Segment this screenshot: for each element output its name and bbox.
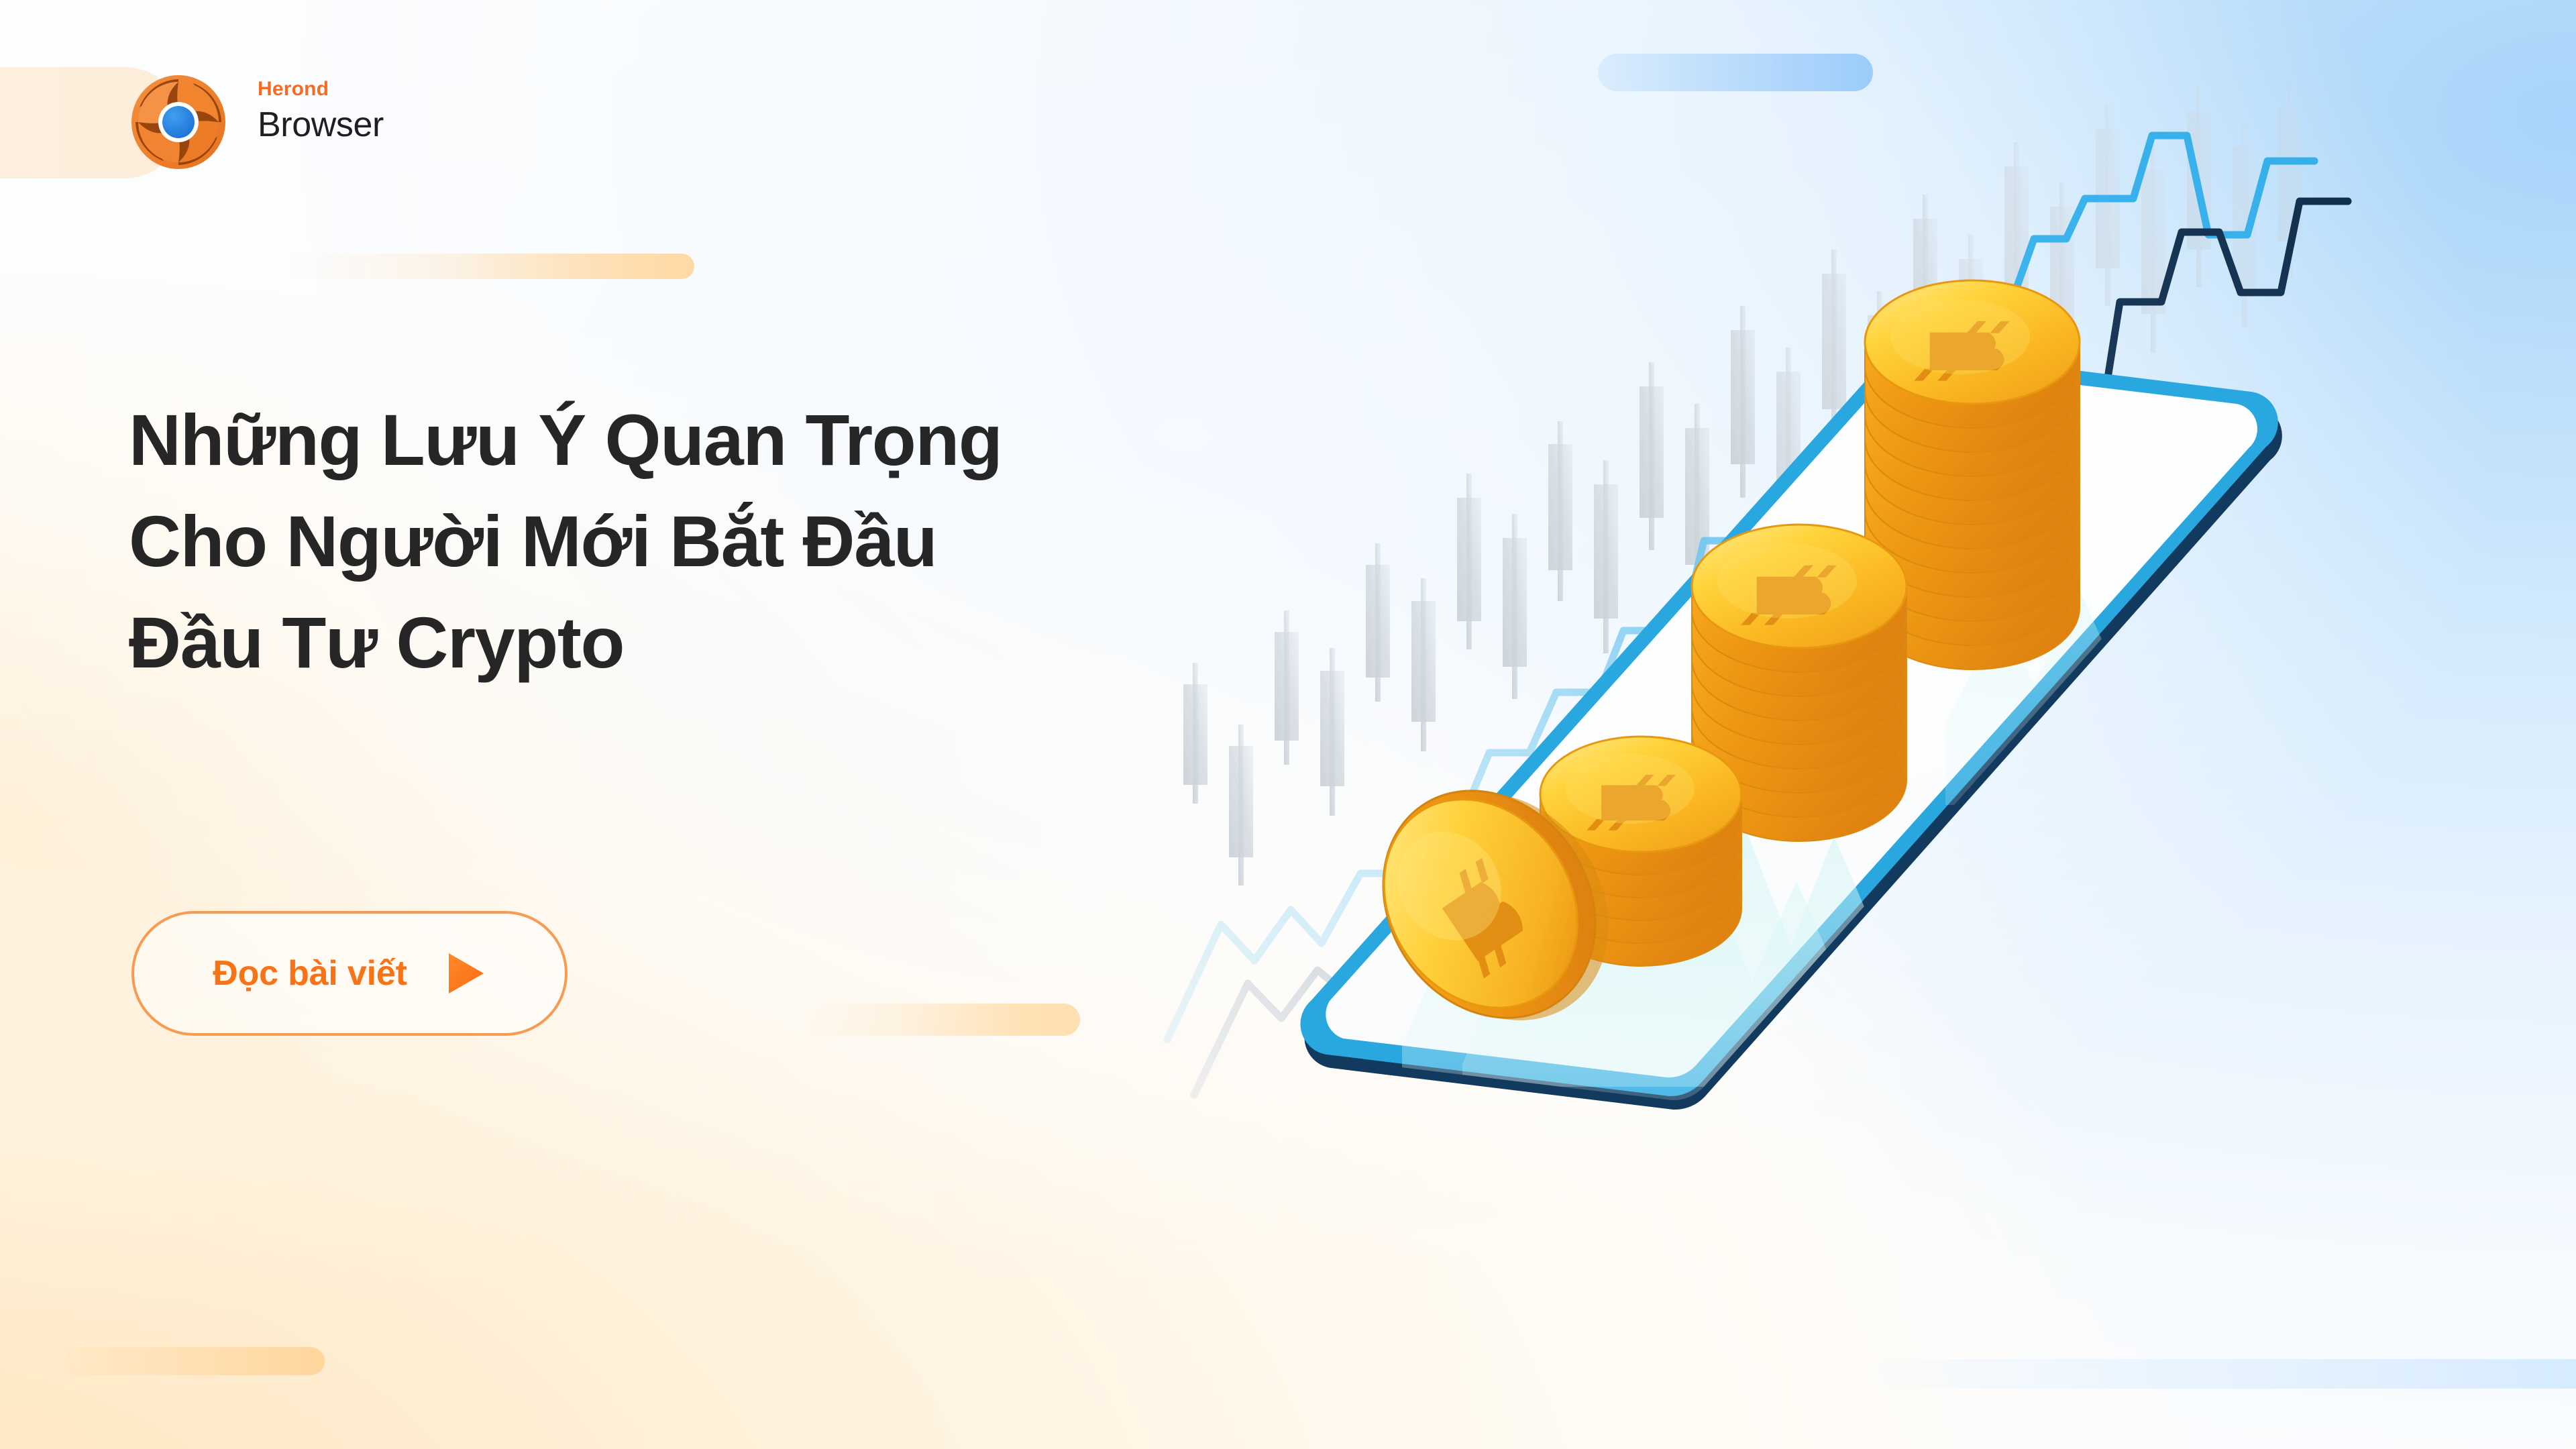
- read-article-button[interactable]: Đọc bài viết: [131, 911, 568, 1036]
- read-article-label: Đọc bài viết: [213, 953, 407, 994]
- orange-pill-bottom: [64, 1347, 325, 1375]
- brand-logo[interactable]: Herond Browser: [129, 72, 545, 173]
- orange-pill-mid: [804, 1004, 1080, 1036]
- herond-pinwheel-logo: [129, 72, 228, 172]
- brand-name: Herond: [258, 78, 384, 101]
- hero-banner: Herond Browser Những Lưu Ý Quan Trọng Ch…: [0, 0, 2576, 1449]
- orange-pill-top: [288, 254, 694, 279]
- brand-product: Browser: [258, 105, 384, 145]
- page-title: Những Lưu Ý Quan Trọng Cho Người Mới Bắt…: [129, 389, 1383, 694]
- headline-line-3: Đầu Tư Crypto: [129, 592, 1383, 693]
- headline-line-1: Những Lưu Ý Quan Trọng: [129, 389, 1383, 490]
- headline-line-2: Cho Người Mới Bắt Đầu: [129, 490, 1383, 592]
- play-triangle-icon: [446, 951, 486, 996]
- crypto-illustration: [1114, 80, 2576, 1382]
